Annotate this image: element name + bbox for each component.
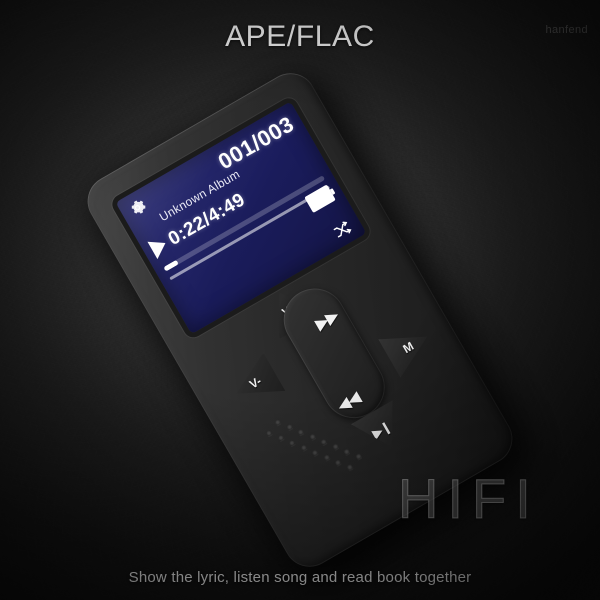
headline-text: APE/FLAC — [0, 20, 600, 54]
menu-label: M — [400, 339, 416, 356]
shuffle-icon — [331, 219, 354, 240]
play-icon — [147, 234, 170, 259]
volume-down-label: V- — [247, 374, 264, 392]
caption-text: Show the lyric, listen song and read boo… — [0, 569, 600, 586]
watermark-text: hanfend — [545, 24, 588, 36]
hifi-wordmark: HIFI — [398, 466, 540, 531]
gear-icon — [126, 196, 149, 219]
product-photo-stage: APE/FLAC hanfend 001/003 Unknown Album 0… — [0, 0, 600, 600]
